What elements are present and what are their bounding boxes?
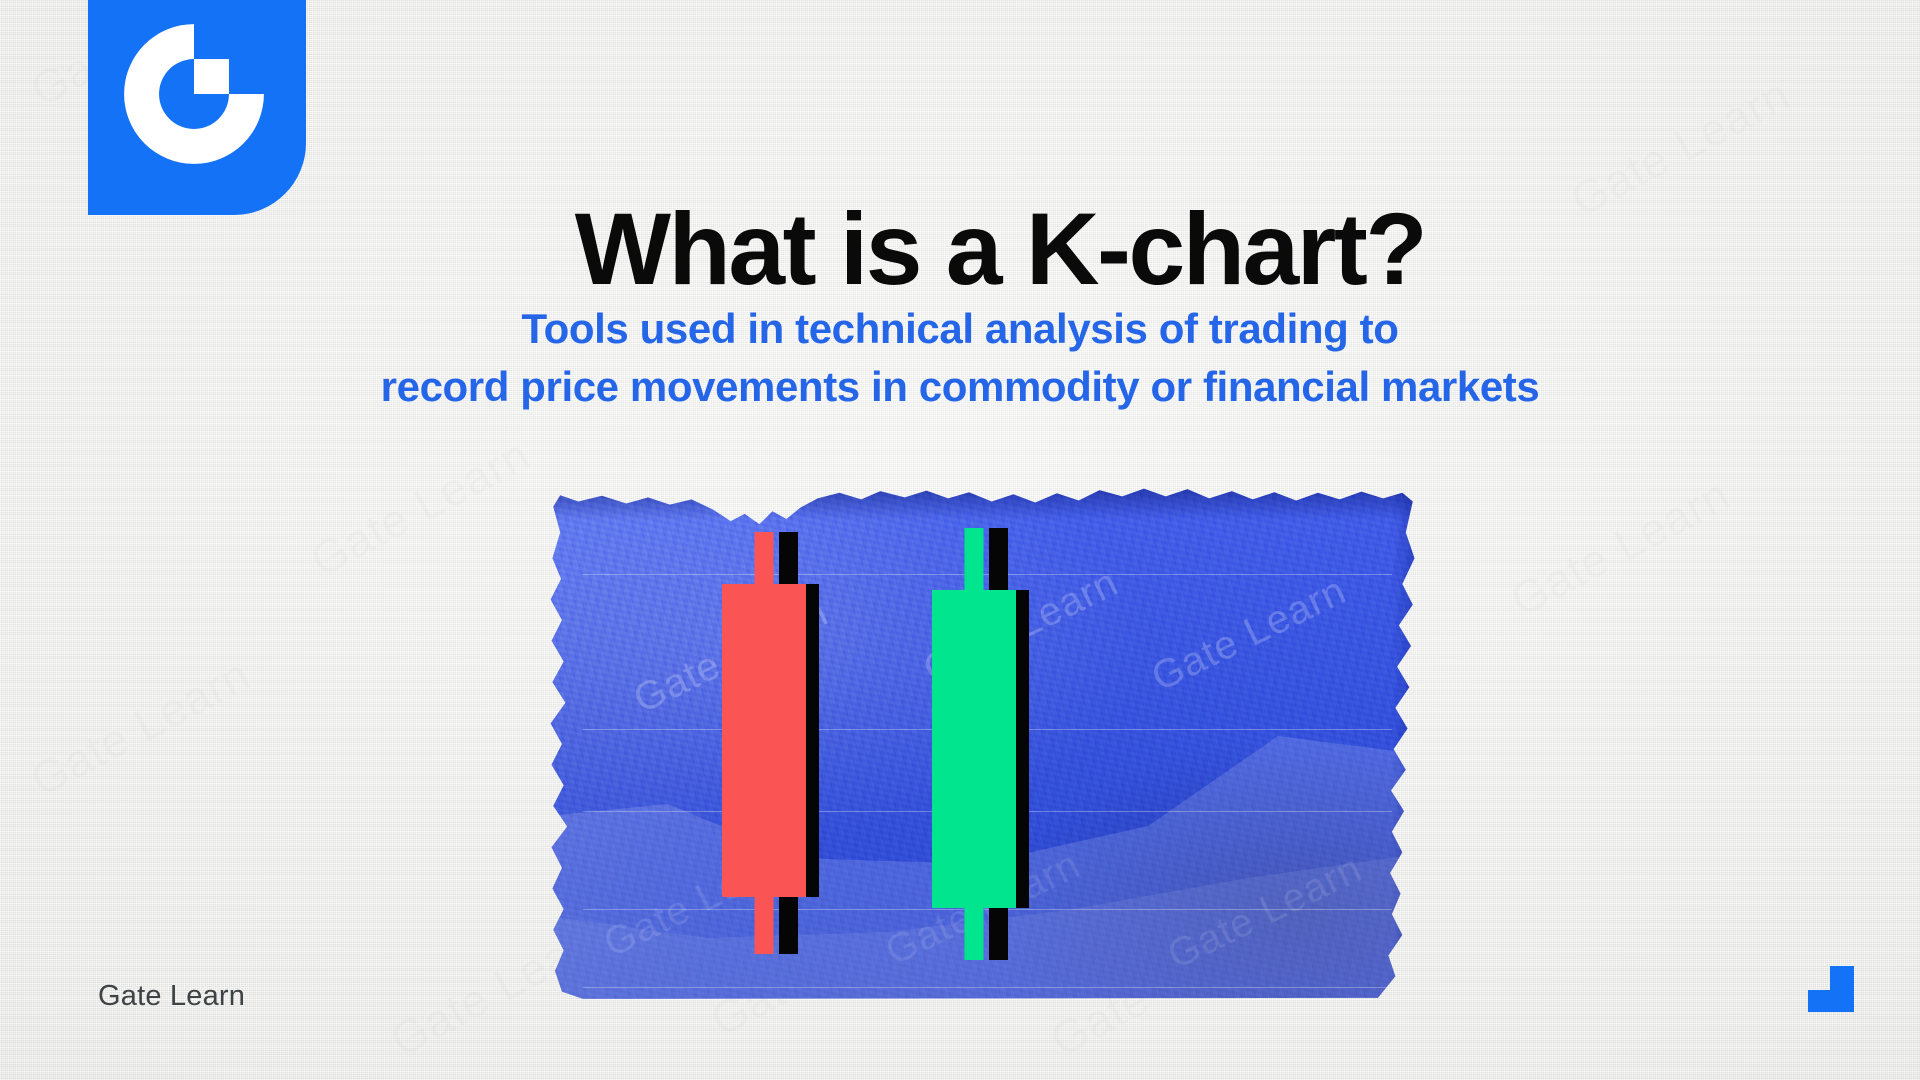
page-title: What is a K-chart? xyxy=(0,196,1920,302)
candle-bullish xyxy=(932,528,1016,960)
page-watermark: Gate Learn xyxy=(301,427,538,587)
candle-body xyxy=(722,584,806,897)
page-watermark: Gate Learn xyxy=(21,647,258,807)
footer-brand-label: Gate Learn xyxy=(98,980,245,1013)
candle-body xyxy=(932,590,1016,908)
page-watermark: Gate Learn xyxy=(1501,467,1738,627)
gate-logo-icon xyxy=(118,18,270,170)
subtitle-line-2: record price movements in commodity or f… xyxy=(0,358,1920,416)
subtitle-line-1: Tools used in technical analysis of trad… xyxy=(0,300,1920,358)
corner-bracket-mark-icon xyxy=(1808,966,1854,1012)
chart-plot-area: Gate Learn Gate Learn Gate Learn Gate Le… xyxy=(548,486,1418,1002)
page-subtitle: Tools used in technical analysis of trad… xyxy=(0,300,1920,416)
candle-wick-lower xyxy=(755,862,774,954)
torn-paper-backdrop: Gate Learn Gate Learn Gate Learn Gate Le… xyxy=(548,486,1418,1002)
candlestick-illustration: Gate Learn Gate Learn Gate Learn Gate Le… xyxy=(548,486,1418,1002)
candle-wick-lower xyxy=(965,868,984,960)
brand-logo-block xyxy=(88,0,306,215)
candle-bearish xyxy=(722,532,806,954)
chart-gridline xyxy=(583,987,1392,988)
